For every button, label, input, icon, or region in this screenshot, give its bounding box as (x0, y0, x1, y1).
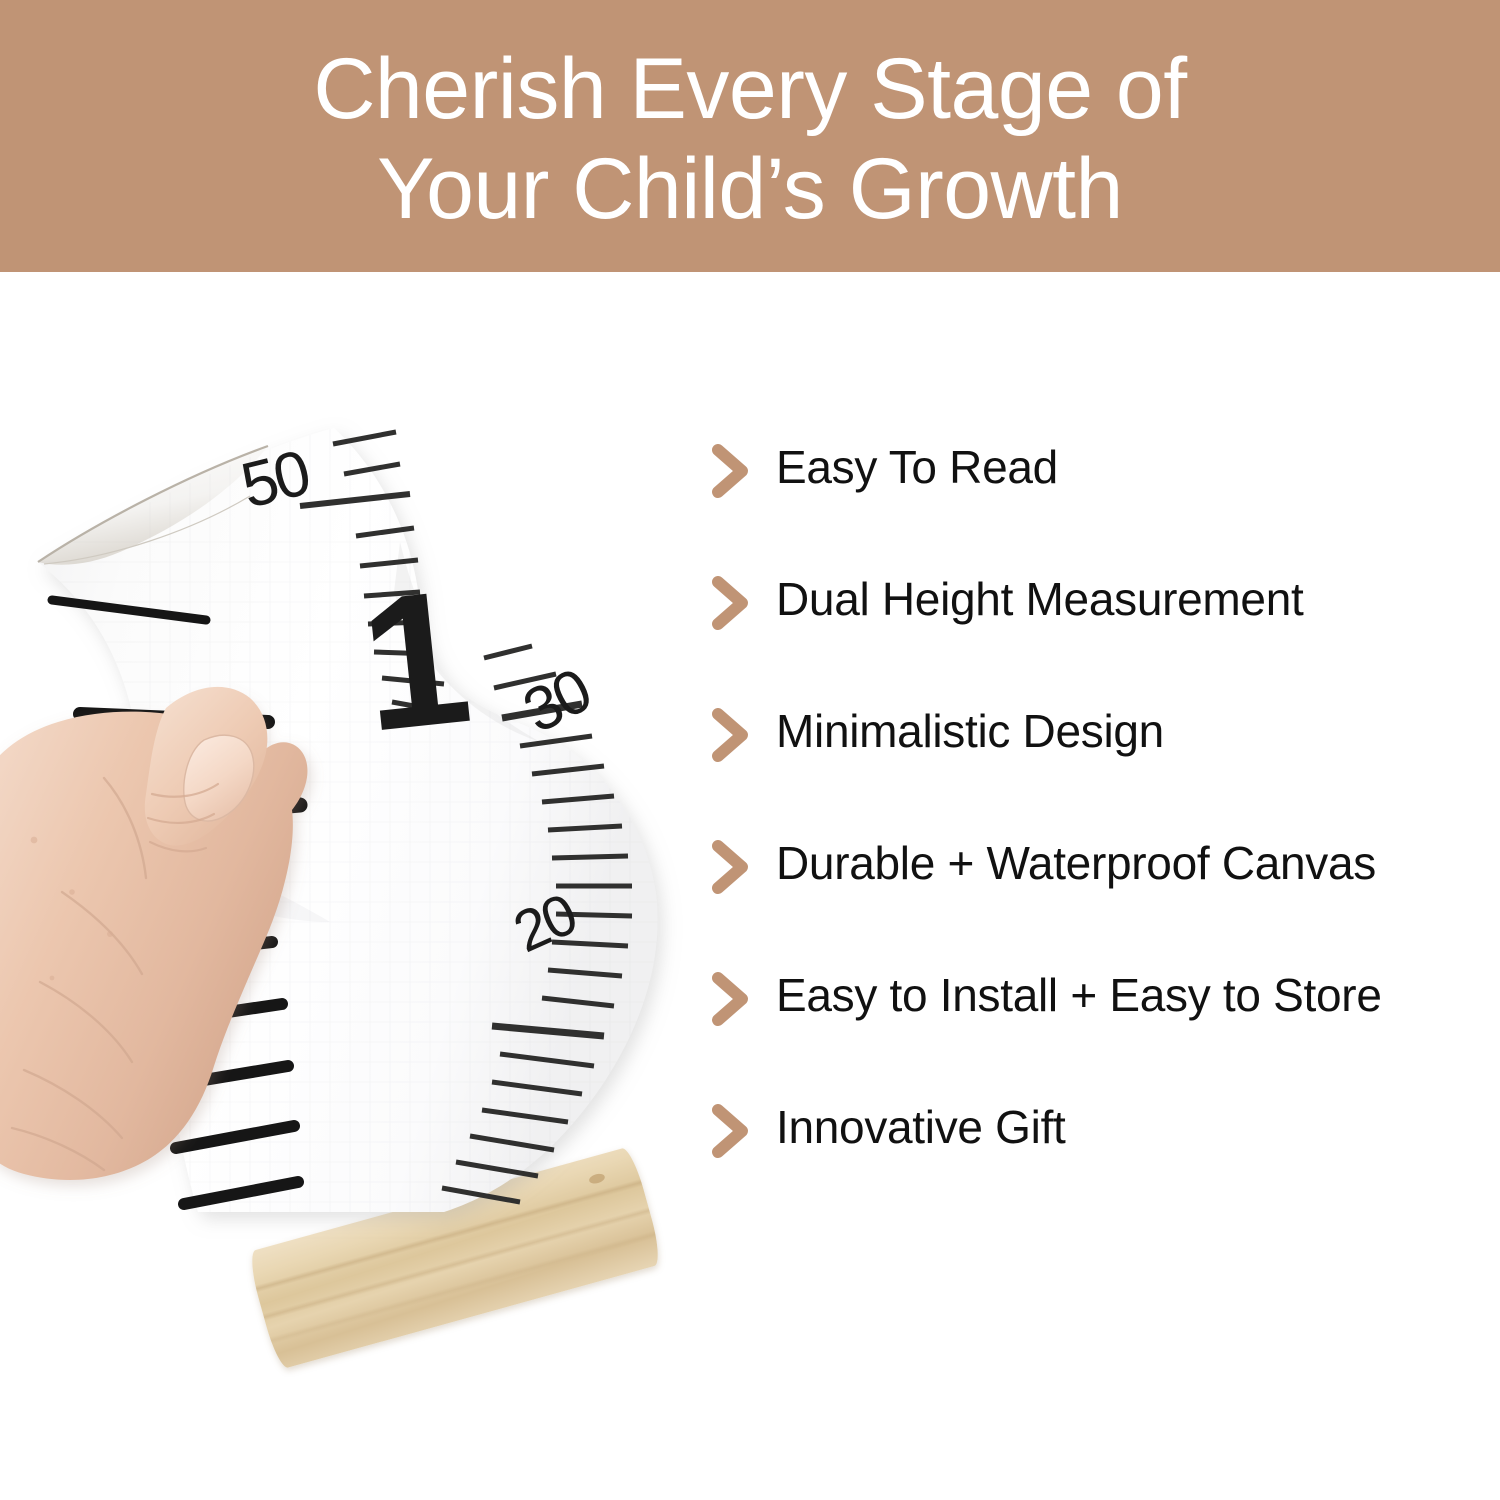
chevron-right-icon (712, 1104, 752, 1158)
header-banner: Cherish Every Stage of Your Child’s Grow… (0, 0, 1500, 272)
feature-label: Durable + Waterproof Canvas (776, 838, 1376, 890)
feature-item-durable-waterproof-canvas: Durable + Waterproof Canvas (712, 838, 1492, 892)
feature-item-easy-to-read: Easy To Read (712, 442, 1492, 496)
header-title-line-2: Your Child’s Growth (377, 140, 1123, 240)
chevron-right-icon (712, 576, 752, 630)
feature-label: Easy to Install + Easy to Store (776, 970, 1382, 1022)
feature-label: Dual Height Measurement (776, 574, 1303, 626)
feature-item-minimalistic-design: Minimalistic Design (712, 706, 1492, 760)
feature-label: Minimalistic Design (776, 706, 1164, 758)
feature-label: Innovative Gift (776, 1102, 1066, 1154)
chevron-right-icon (712, 972, 752, 1026)
chevron-right-icon (712, 444, 752, 498)
header-title-line-1: Cherish Every Stage of (313, 40, 1186, 140)
chevron-right-icon (712, 840, 752, 894)
feature-item-innovative-gift: Innovative Gift (712, 1102, 1492, 1156)
main-content: 50 1 30 20 (0, 272, 1500, 1500)
growth-chart-canvas: 50 1 30 20 (0, 422, 700, 1382)
chevron-right-icon (712, 708, 752, 762)
product-photo: 50 1 30 20 (0, 422, 700, 1382)
feature-item-easy-to-install-and-store: Easy to Install + Easy to Store (712, 970, 1492, 1024)
ruler-number-foot-marker: 1 (355, 577, 477, 747)
feature-label: Easy To Read (776, 442, 1058, 494)
feature-item-dual-height-measurement: Dual Height Measurement (712, 574, 1492, 628)
